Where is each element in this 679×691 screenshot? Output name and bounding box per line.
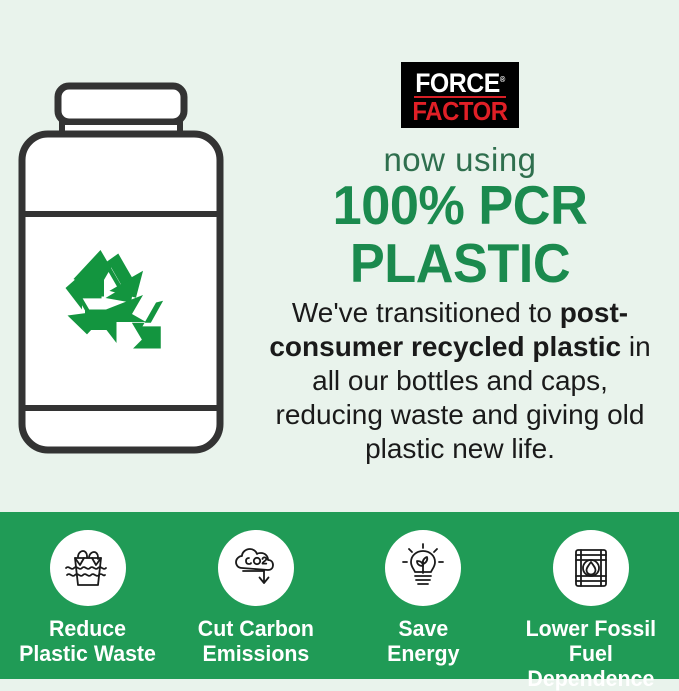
registered-trademark-icon: ® bbox=[500, 75, 505, 84]
body-segment-1: We've transitioned to bbox=[292, 297, 560, 328]
benefit-icon-circle bbox=[553, 530, 629, 606]
oil-barrel-droplet-icon bbox=[563, 540, 619, 596]
benefit-save-energy: Save Energy bbox=[340, 530, 508, 666]
benefit-icon-circle bbox=[385, 530, 461, 606]
benefit-icon-circle bbox=[218, 530, 294, 606]
headline-text: 100% PCR PLASTIC bbox=[261, 176, 660, 292]
body-copy: We've transitioned to post-consumer recy… bbox=[250, 296, 670, 466]
top-section: FORCE® FACTOR now using 100% PCR PLASTIC… bbox=[0, 0, 679, 512]
eyebrow-text: now using bbox=[250, 142, 670, 178]
pcr-plastic-infographic: FORCE® FACTOR now using 100% PCR PLASTIC… bbox=[0, 0, 679, 679]
benefit-lower-fossil-fuel-dependence: Lower Fossil Fuel Dependence bbox=[507, 530, 675, 691]
benefit-label: Lower Fossil Fuel Dependence bbox=[510, 616, 673, 691]
logo-line-force: FORCE® bbox=[406, 67, 515, 96]
benefit-icon-circle bbox=[50, 530, 126, 606]
benefit-label: Cut Carbon Emissions bbox=[198, 616, 314, 666]
lightbulb-sprout-icon bbox=[395, 540, 451, 596]
force-factor-logo: FORCE® FACTOR bbox=[401, 62, 519, 128]
hero-text-column: FORCE® FACTOR now using 100% PCR PLASTIC… bbox=[250, 56, 670, 456]
benefit-label: Save Energy bbox=[387, 616, 459, 666]
co2-cloud-arrow-down-icon bbox=[228, 540, 284, 596]
logo-line-factor: FACTOR bbox=[406, 99, 515, 124]
benefit-reduce-plastic-waste: Reduce Plastic Waste bbox=[4, 530, 172, 666]
benefit-cut-carbon-emissions: Cut Carbon Emissions bbox=[172, 530, 340, 666]
benefits-banner: Reduce Plastic Waste bbox=[0, 512, 679, 679]
plastic-bag-in-water-icon bbox=[60, 540, 116, 596]
supplement-tub-illustration bbox=[14, 78, 264, 478]
benefit-label: Reduce Plastic Waste bbox=[19, 616, 156, 666]
